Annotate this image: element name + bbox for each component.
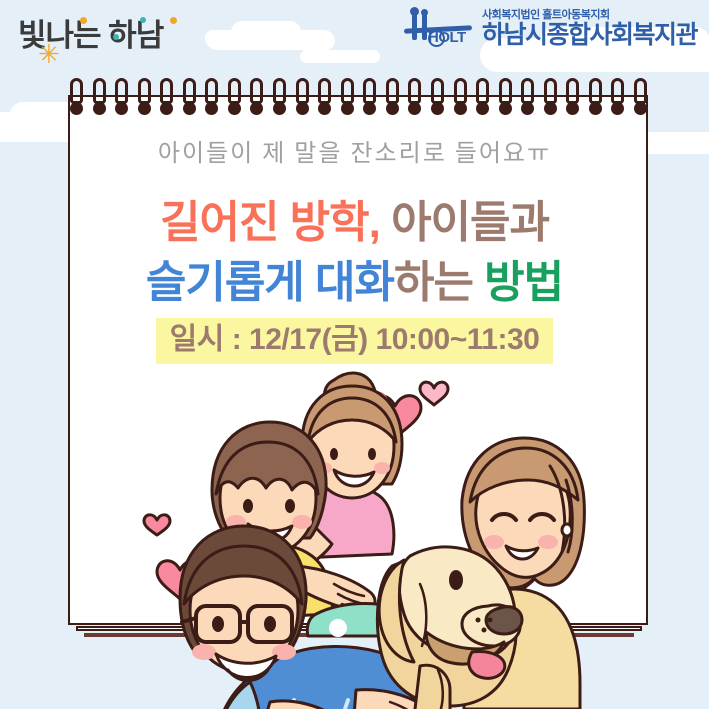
headline-segment: 방법 [473, 258, 563, 307]
cloud-shape [205, 30, 335, 50]
date-row: 일시 : 12/17(금) 10:00~11:30 [0, 318, 709, 364]
binnaneun-hanam-logo: 빛나는 하남 ✳ [18, 8, 198, 68]
logo-dot-icon [170, 17, 177, 24]
headline-segment: 아이들과 [380, 198, 549, 247]
cloud-shape [300, 50, 380, 63]
headline-line-2: 슬기롭게 대화하는 방법 [0, 246, 709, 310]
headline-segment: 슬기롭게 대화 [146, 258, 394, 307]
org-name-large: 하남시종합사회복지관 [482, 23, 697, 48]
poster-canvas: 빛나는 하남 ✳ HOLT 사회복지법인 홀트아동복지회 하남시종합사회복지관 … [0, 0, 709, 709]
notepad-page-layer [76, 626, 642, 631]
logo-dot-icon [113, 34, 119, 40]
holt-figure-body-icon [412, 14, 417, 40]
star-icon: ✳ [38, 41, 60, 67]
headline-line-1: 길어진 방학, 아이들과 [0, 186, 709, 250]
subtitle-text: 아이들이 제 말을 잔소리로 들어요ㅠ [0, 133, 709, 168]
figure-hands [264, 701, 348, 709]
holt-mark-icon: HOLT [402, 7, 474, 47]
logo-dot-icon [140, 17, 146, 23]
logo-dot-icon [80, 17, 87, 24]
notepad-page-layer [84, 633, 634, 637]
headline-segment: 길어진 방학, [160, 198, 380, 247]
event-date-badge: 일시 : 12/17(금) 10:00~11:30 [156, 318, 554, 364]
headline-segment: 하는 [394, 258, 473, 307]
org-name-block: 사회복지법인 홀트아동복지회 하남시종합사회복지관 [482, 6, 697, 48]
holt-wordmark: HOLT [428, 29, 466, 46]
holt-hanam-welfare-logo: HOLT 사회복지법인 홀트아동복지회 하남시종합사회복지관 [402, 6, 697, 48]
org-name-small: 사회복지법인 홀트아동복지회 [482, 6, 697, 22]
